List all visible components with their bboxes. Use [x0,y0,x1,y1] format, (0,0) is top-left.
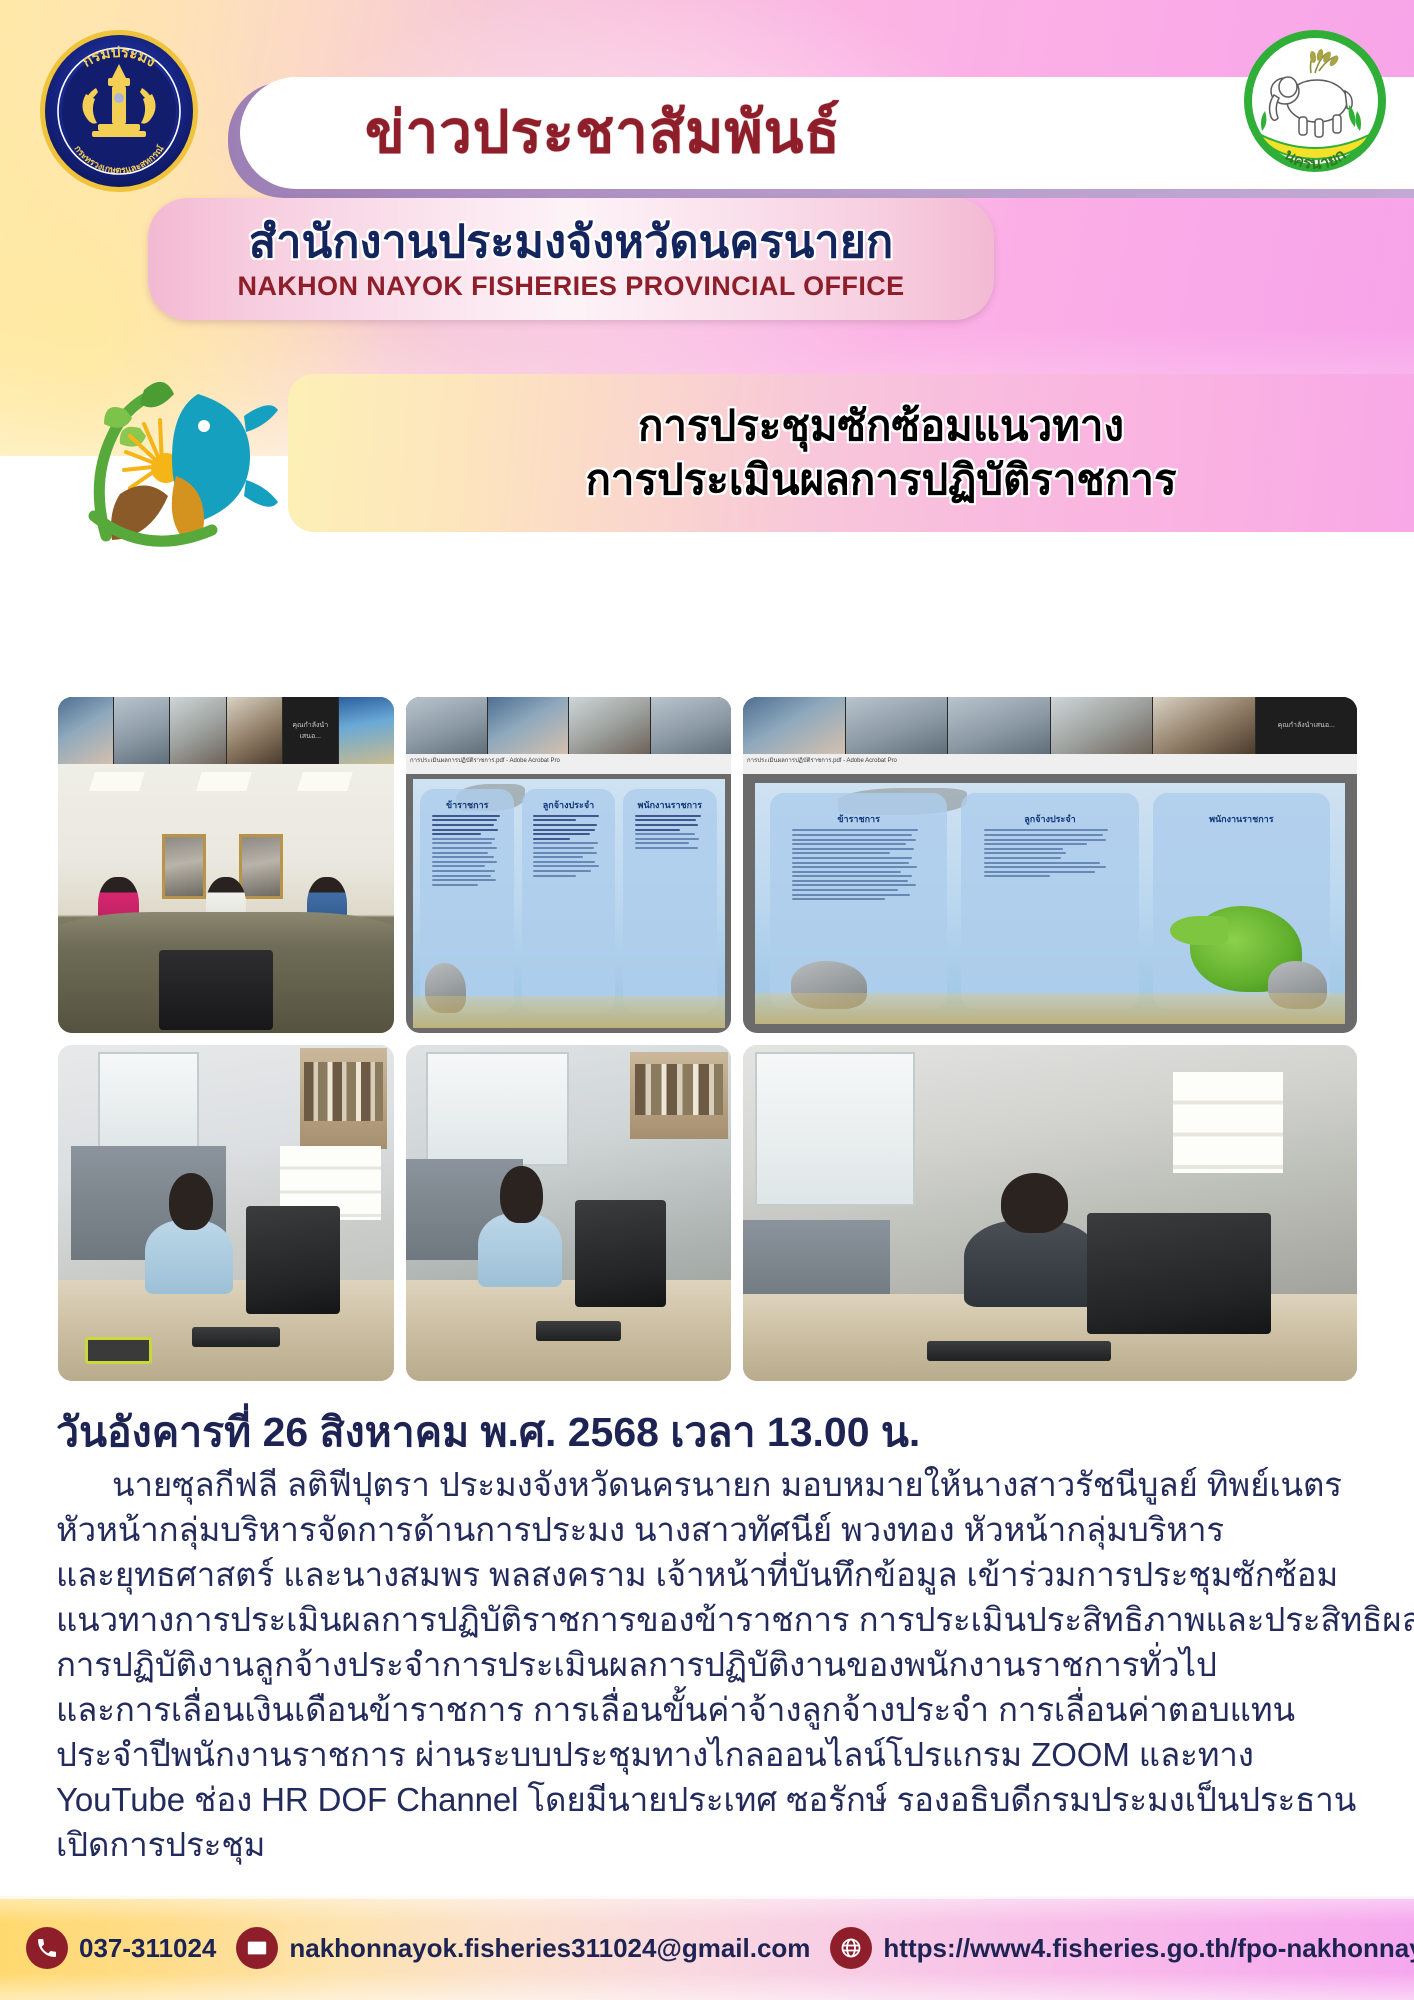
zoom-tile-caption: คุณกำลังนำเสนอ... [1256,697,1358,754]
zoom-participant-strip: คุณกำลังนำเสนอ... [58,697,394,764]
topic-line-1: การประชุมซักซ้อมแนวทาง [638,399,1124,453]
contact-phone[interactable]: 037-311024 [26,1927,216,1969]
article-body: นายซุลกีฟลี ลติฟีปุตรา ประมงจังหวัดนครนา… [56,1462,1368,1867]
office-workstation-scene [58,1045,394,1381]
article-line: เปิดการประชุม [56,1822,1368,1867]
article-line: นายซุลกีฟลี ลติฟีปุตรา ประมงจังหวัดนครนา… [56,1462,1368,1507]
office-window [755,1052,915,1207]
computer-monitor [246,1206,340,1314]
staff-member [478,1213,563,1287]
wall-portrait-frame [239,834,283,899]
zoom-tile [114,697,169,764]
zoom-tile [1051,697,1153,754]
adobe-reader-screenshare: การประเมินผลการปฏิบัติราชการ.pdf - Adobe… [406,697,731,1033]
article-line: การปฏิบัติงานลูกจ้างประจำการประเมินผลการ… [56,1642,1368,1687]
pdf-page: ข้าราชการ ลูกจ้างป [755,783,1344,1023]
staff-member [145,1220,232,1294]
pinned-papers [1173,1072,1284,1173]
zoom-tile [1153,697,1255,754]
zoom-tile [58,697,113,764]
website-url: https://www4.fisheries.go.th/fpo-nakhonn… [883,1933,1414,1964]
pdf-column: ลูกจ้างประจำ [961,793,1138,1009]
adobe-reader-screenshare: คุณกำลังนำเสนอ... การประเมินผลการปฏิบัติ… [743,697,1357,1033]
globe-icon [830,1927,872,1969]
office-name-thai: สำนักงานประมงจังหวัดนครนายก [249,218,893,265]
mouse-pad [85,1337,152,1364]
staff-head [169,1173,213,1230]
adobe-titlebar: การประเมินผลการปฏิบัติราชการ.pdf - Adobe… [406,754,731,774]
keyboard [192,1327,279,1347]
zoom-tile [406,697,487,754]
pdf-column-heading: ข้าราชการ [432,801,502,811]
monitor-rear [159,950,273,1031]
zoom-tile [948,697,1050,754]
pdf-column-heading: ลูกจ้างประจำ [984,815,1117,825]
keyboard [536,1321,621,1341]
photo-zoom-meeting-room: คุณกำลังนำเสนอ... [58,697,394,1033]
pdf-column-heading: พนักงานราชการ [635,801,705,811]
office-workstation-scene [743,1045,1357,1381]
zoom-tile [339,697,394,764]
nakhon-nayok-province-seal: นครนายก [1241,27,1389,175]
article-line: YouTube ช่อง HR DOF Channel โดยมีนายประเ… [56,1777,1368,1822]
topic-title-band: การประชุมซักซ้อมแนวทาง การประเมินผลการปฏ… [288,374,1414,532]
photo-slide-criteria-1: การประเมินผลการปฏิบัติราชการ.pdf - Adobe… [406,697,731,1033]
office-window [426,1052,569,1166]
pdf-page: ข้าราชการ [413,779,725,1028]
photo-slide-criteria-2: คุณกำลังนำเสนอ... การประเมินผลการปฏิบัติ… [743,697,1357,1033]
fisheries-fish-logo [48,348,304,548]
wall-portrait-frame [162,834,206,899]
computer-monitor [1087,1213,1271,1334]
zoom-tile [651,697,732,754]
topic-line-2: การประเมินผลการปฏิบัติราชการ [585,453,1176,507]
pdf-column: พนักงานราชการ [623,789,717,1013]
office-window [98,1052,199,1153]
zoom-tile [170,697,225,764]
pdf-column-heading: ลูกจ้างประจำ [533,801,603,811]
zoom-tile [488,697,569,754]
article-line: แนวทางการประเมินผลการปฏิบัติราชการของข้า… [56,1597,1368,1642]
article-line: หัวหน้ากลุ่มบริหารจัดการด้านการประมง นาง… [56,1507,1368,1552]
pdf-columns: ข้าราชการ [420,789,716,1013]
envelope-icon [236,1927,278,1969]
zoom-tile [846,697,948,754]
seabed-illustration [755,993,1344,1024]
article-line: และยุทธศาสตร์ และนางสมพร พลสงคราม เจ้าหน… [56,1552,1368,1597]
photo-staff-desk-1 [58,1045,394,1381]
phone-icon [26,1927,68,1969]
keyboard [927,1341,1111,1361]
phone-number: 037-311024 [79,1933,216,1964]
staff-head [1001,1173,1069,1233]
footer-contact-bar: 037-311024 nakhonnayok.fisheries311024@g… [0,1896,1414,2000]
document-shelf [630,1052,728,1139]
zoom-tile [227,697,282,764]
office-name-panel: สำนักงานประมงจังหวัดนครนายก NAKHON NAYOK… [148,198,994,320]
email-address: nakhonnayok.fisheries311024@gmail.com [289,1933,810,1964]
ceiling-light [89,772,145,791]
photo-staff-desk-2 [406,1045,731,1381]
zoom-tile [743,697,845,754]
poster-root: กรมประมง กระทรวงเกษตรและสหกรณ์ [0,0,1414,2000]
zoom-participant-strip [406,697,731,754]
pdf-viewport: ข้าราชการ ลูกจ้างป [743,774,1357,1033]
pr-banner: ข่าวประชาสัมพันธ์ [240,77,1414,189]
staff-head [500,1166,542,1223]
ceiling-light [196,772,252,791]
document-shelf [300,1048,387,1149]
computer-monitor [575,1200,666,1308]
pdf-viewport: ข้าราชการ [406,774,731,1033]
meeting-room-scene [58,764,394,1033]
zoom-tile [569,697,650,754]
pdf-column-heading: ข้าราชการ [792,815,925,825]
article-line: และการเลื่อนเงินเดือนข้าราชการ การเลื่อน… [56,1687,1368,1732]
event-date-line: วันอังคารที่ 26 สิงหาคม พ.ศ. 2568 เวลา 1… [56,1400,1366,1465]
pdf-column: ลูกจ้างประจำ [522,789,616,1013]
zoom-tile: คุณกำลังนำเสนอ... [283,697,338,764]
ceiling-light [297,772,353,791]
zoom-tile: คุณกำลังนำเสนอ... [1256,697,1358,754]
seabed-illustration [413,996,725,1028]
pdf-column-heading: พนักงานราชการ [1175,815,1308,825]
office-name-english: NAKHON NAYOK FISHERIES PROVINCIAL OFFICE [237,271,904,302]
office-workstation-scene [406,1045,731,1381]
zoom-participant-strip: คุณกำลังนำเสนอ... [743,697,1357,754]
photo-staff-desk-3 [743,1045,1357,1381]
photo-gallery: คุณกำลังนำเสนอ... [58,697,1358,1381]
department-of-fisheries-seal: กรมประมง กระทรวงเกษตรและสหกรณ์ [36,28,202,194]
pr-banner-title: ข่าวประชาสัมพันธ์ [365,104,841,162]
zoom-tile-caption: คุณกำลังนำเสนอ... [283,697,338,764]
contact-email[interactable]: nakhonnayok.fisheries311024@gmail.com [236,1927,810,1969]
adobe-titlebar: การประเมินผลการปฏิบัติราชการ.pdf - Adobe… [743,754,1357,774]
contact-website[interactable]: https://www4.fisheries.go.th/fpo-nakhonn… [830,1927,1414,1969]
article-line: ประจำปีพนักงานราชการ ผ่านระบบประชุมทางไก… [56,1732,1368,1777]
